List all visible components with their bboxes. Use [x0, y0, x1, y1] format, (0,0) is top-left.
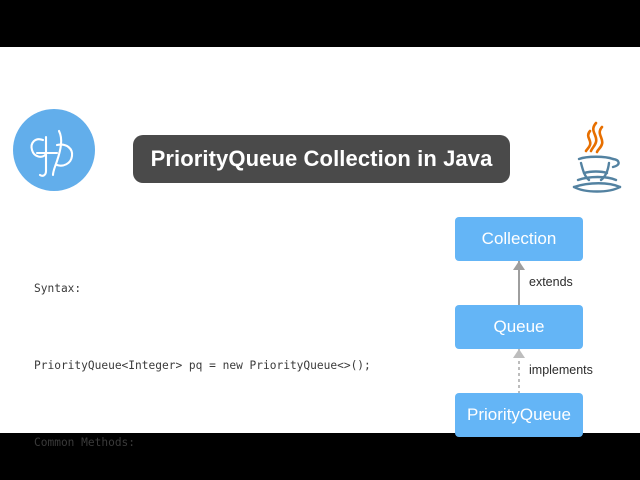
jh-monogram-logo-icon: [13, 109, 95, 191]
code-syntax-heading: Syntax:: [34, 283, 434, 299]
code-spacer-1: [34, 322, 434, 338]
node-collection-label: Collection: [482, 229, 557, 249]
slide-canvas: PriorityQueue Collection in Java: [0, 47, 640, 433]
node-queue-label: Queue: [493, 317, 544, 337]
code-spacer-2: [34, 399, 434, 415]
java-coffee-cup-icon: [565, 115, 627, 197]
code-methods-heading: Common Methods:: [34, 437, 434, 453]
edge-implements-arrowhead-icon: [513, 349, 525, 358]
edge-extends-label: extends: [529, 275, 573, 289]
node-queue: Queue: [455, 305, 583, 349]
slide-title-pill: PriorityQueue Collection in Java: [133, 135, 510, 183]
slide-screen: PriorityQueue Collection in Java: [0, 0, 640, 480]
code-spacer-3: [34, 475, 434, 480]
class-hierarchy-diagram: Collection extends Queue implements Prio…: [455, 217, 585, 437]
node-collection: Collection: [455, 217, 583, 261]
node-priorityqueue: PriorityQueue: [455, 393, 583, 437]
code-snippet: Syntax: PriorityQueue<Integer> pq = new …: [34, 261, 434, 480]
edge-extends-arrowhead-icon: [513, 261, 525, 270]
edge-implements-label: implements: [529, 363, 593, 377]
code-syntax-line: PriorityQueue<Integer> pq = new Priority…: [34, 360, 434, 376]
page-title: PriorityQueue Collection in Java: [151, 146, 493, 172]
node-priorityqueue-label: PriorityQueue: [467, 405, 571, 425]
letterbox-top: [0, 0, 640, 47]
